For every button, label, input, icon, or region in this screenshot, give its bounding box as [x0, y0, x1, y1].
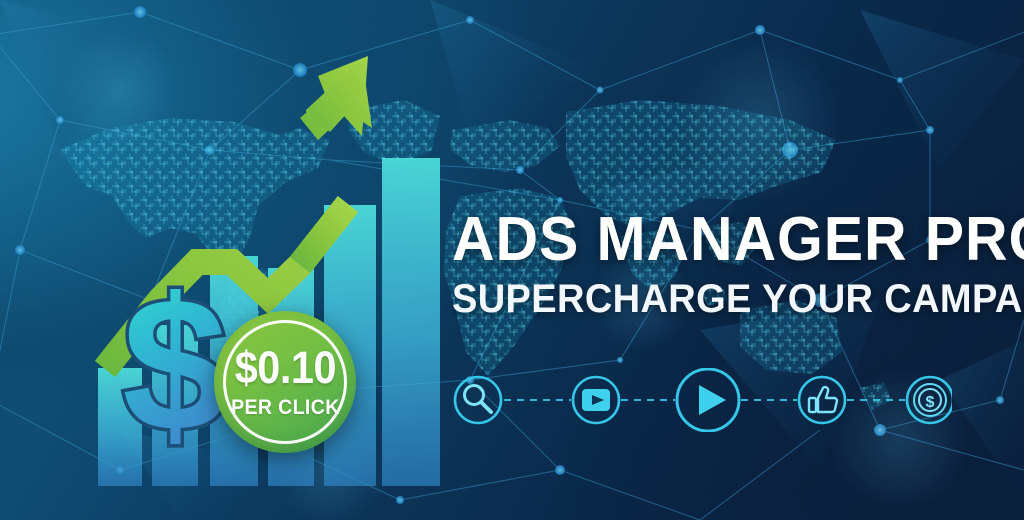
- thumbs-up-icon[interactable]: [799, 377, 845, 423]
- coin-icon[interactable]: $: [907, 377, 952, 423]
- video-ad-icon[interactable]: [573, 377, 619, 423]
- page-subtitle: SUPERCHARGE YOUR CAMPAIGNS: [452, 279, 1024, 319]
- play-icon[interactable]: [677, 369, 739, 431]
- promo-banner: $ $0.10 PER CLICK ADS MANAGER PRO SUPERC…: [0, 0, 1024, 520]
- headline-block: ADS MANAGER PRO SUPERCHARGE YOUR CAMPAIG…: [452, 210, 1024, 319]
- svg-text:$: $: [926, 394, 935, 411]
- svg-text:$: $: [122, 259, 228, 471]
- page-title: ADS MANAGER PRO: [452, 210, 1024, 270]
- dollar-symbol: $: [122, 259, 228, 471]
- price-badge[interactable]: $0.10 PER CLICK: [214, 311, 356, 453]
- funnel-icon-strip: $: [452, 368, 952, 432]
- badge-unit: PER CLICK: [231, 397, 340, 418]
- badge-text: $0.10 PER CLICK: [227, 345, 344, 420]
- search-icon[interactable]: [455, 377, 501, 423]
- badge-price: $0.10: [231, 345, 338, 390]
